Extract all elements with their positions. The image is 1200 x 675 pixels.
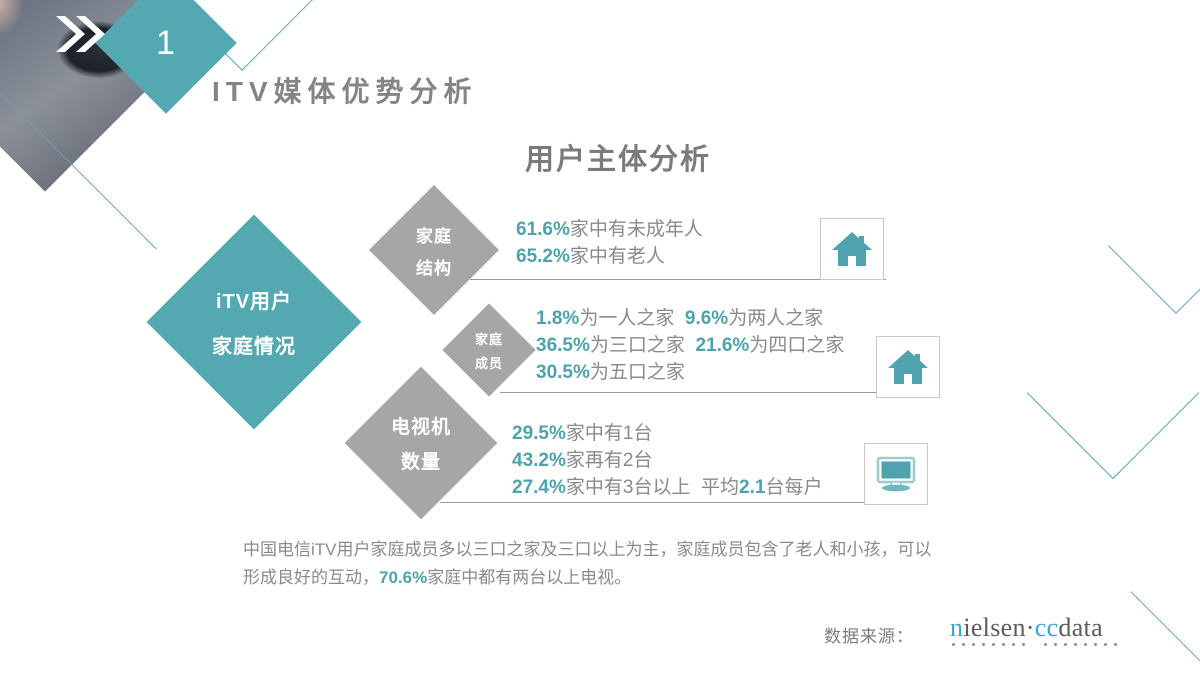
logo-part-n: n xyxy=(950,613,963,642)
stat-gap xyxy=(690,477,701,498)
tv-icon xyxy=(873,454,919,494)
category-line-1: 电视机 xyxy=(391,412,451,439)
stat-label: 家中有1台 xyxy=(566,423,653,444)
stat-line: 65.2%家中有老人 xyxy=(516,244,703,271)
stat-value: 43.2% xyxy=(512,450,566,471)
row-divider-3 xyxy=(440,502,924,503)
source-label: 数据来源： xyxy=(824,622,914,647)
hub-text: iTV用户 家庭情况 xyxy=(178,246,330,398)
stat-value: 61.6% xyxy=(516,219,570,240)
house-icon xyxy=(830,229,874,269)
stat-label: 为五口之家 xyxy=(590,362,685,383)
category-line-1: 家庭 xyxy=(416,222,452,247)
stats-block-family-members: 1.8%为一人之家 9.6%为两人之家36.5%为三口之家 21.6%为四口之家… xyxy=(536,306,844,387)
stat-line: 36.5%为三口之家 21.6%为四口之家 xyxy=(536,333,844,360)
stats-block-tv-count: 29.5%家中有1台43.2%家再有2台27.4%家中有3台以上 平均2.1台每… xyxy=(512,421,822,502)
category-label: 家庭 结构 xyxy=(388,204,480,296)
stat-value: 21.6% xyxy=(695,335,749,356)
stat-label: 家中有未成年人 xyxy=(570,219,703,240)
icon-box-family-structure xyxy=(820,218,884,280)
stat-gap xyxy=(685,335,696,356)
stat-label-prefix: 平均 xyxy=(701,477,739,498)
stat-label: 家再有2台 xyxy=(566,450,653,471)
category-diamond-tv-count: 电视机 数量 xyxy=(345,367,498,520)
stat-value: 29.5% xyxy=(512,423,566,444)
stat-value: 36.5% xyxy=(536,335,590,356)
nielsen-ccdata-logo: nielsen·ccdata xyxy=(950,615,1103,641)
stat-line: 43.2%家再有2台 xyxy=(512,448,822,475)
decorative-chevron-mid-right xyxy=(1027,307,1200,480)
category-label: 电视机 数量 xyxy=(367,389,475,497)
category-line-2: 结构 xyxy=(416,254,452,279)
stat-line: 61.6%家中有未成年人 xyxy=(516,217,703,244)
stat-value: 9.6% xyxy=(685,308,728,329)
logo-dot-underline xyxy=(952,643,1124,647)
stat-line: 30.5%为五口之家 xyxy=(536,360,844,387)
decorative-chevron-top-right xyxy=(1108,178,1200,314)
stat-label: 为三口之家 xyxy=(590,335,685,356)
stat-label: 为两人之家 xyxy=(728,308,823,329)
logo-part-data: data xyxy=(1058,613,1103,642)
category-diamond-family-structure: 家庭 结构 xyxy=(369,185,499,315)
stat-label: 家中有3台以上 xyxy=(566,477,691,498)
hub-diamond: iTV用户 家庭情况 xyxy=(147,215,362,430)
summary-part-2: 家庭中都有两台以上电视。 xyxy=(427,568,631,587)
section-title: 用户主体分析 xyxy=(0,136,1200,178)
category-line-1: 家庭 xyxy=(475,329,503,348)
stat-line: 27.4%家中有3台以上 平均2.1台每户 xyxy=(512,475,822,502)
stat-value: 30.5% xyxy=(536,362,590,383)
hub-line-1: iTV用户 xyxy=(216,285,292,314)
category-line-2: 成员 xyxy=(475,353,503,372)
hub-line-2: 家庭情况 xyxy=(212,330,296,359)
stat-value: 27.4% xyxy=(512,477,566,498)
stat-line: 1.8%为一人之家 9.6%为两人之家 xyxy=(536,306,844,333)
summary-highlight: 70.6% xyxy=(379,568,427,587)
stat-label: 为四口之家 xyxy=(749,335,844,356)
logo-separator: · xyxy=(1026,613,1035,642)
category-label: 家庭 成员 xyxy=(456,317,522,383)
page-title: ITV媒体优势分析 xyxy=(212,70,478,110)
stats-block-family-structure: 61.6%家中有未成年人65.2%家中有老人 xyxy=(516,217,703,271)
stat-value: 1.8% xyxy=(536,308,579,329)
slide-canvas: 1 ITV媒体优势分析 用户主体分析 iTV用户 家庭情况 家庭 结构 家庭 成… xyxy=(0,0,1200,675)
category-line-2: 数量 xyxy=(401,447,441,474)
category-diamond-family-members: 家庭 成员 xyxy=(442,303,535,396)
row-divider-2 xyxy=(500,392,912,393)
logo-part-cc: cc xyxy=(1035,613,1059,642)
step-number-label: 1 xyxy=(116,0,216,93)
stat-gap xyxy=(674,308,685,329)
stat-label: 为一人之家 xyxy=(579,308,674,329)
stat-line: 29.5%家中有1台 xyxy=(512,421,822,448)
summary-paragraph: 中国电信iTV用户家庭成员多以三口之家及三口以上为主，家庭成员包含了老人和小孩，… xyxy=(243,536,943,591)
icon-box-tv-count xyxy=(864,443,928,505)
stat-value: 65.2% xyxy=(516,246,570,267)
stat-label: 台每户 xyxy=(765,477,822,498)
house-icon xyxy=(886,347,930,387)
stat-value: 2.1 xyxy=(739,477,765,498)
decorative-chevron-bottom-right xyxy=(1130,518,1200,665)
logo-part-ielsen: ielsen xyxy=(963,613,1025,642)
stat-label: 家中有老人 xyxy=(570,246,665,267)
icon-box-family-members xyxy=(876,336,940,398)
